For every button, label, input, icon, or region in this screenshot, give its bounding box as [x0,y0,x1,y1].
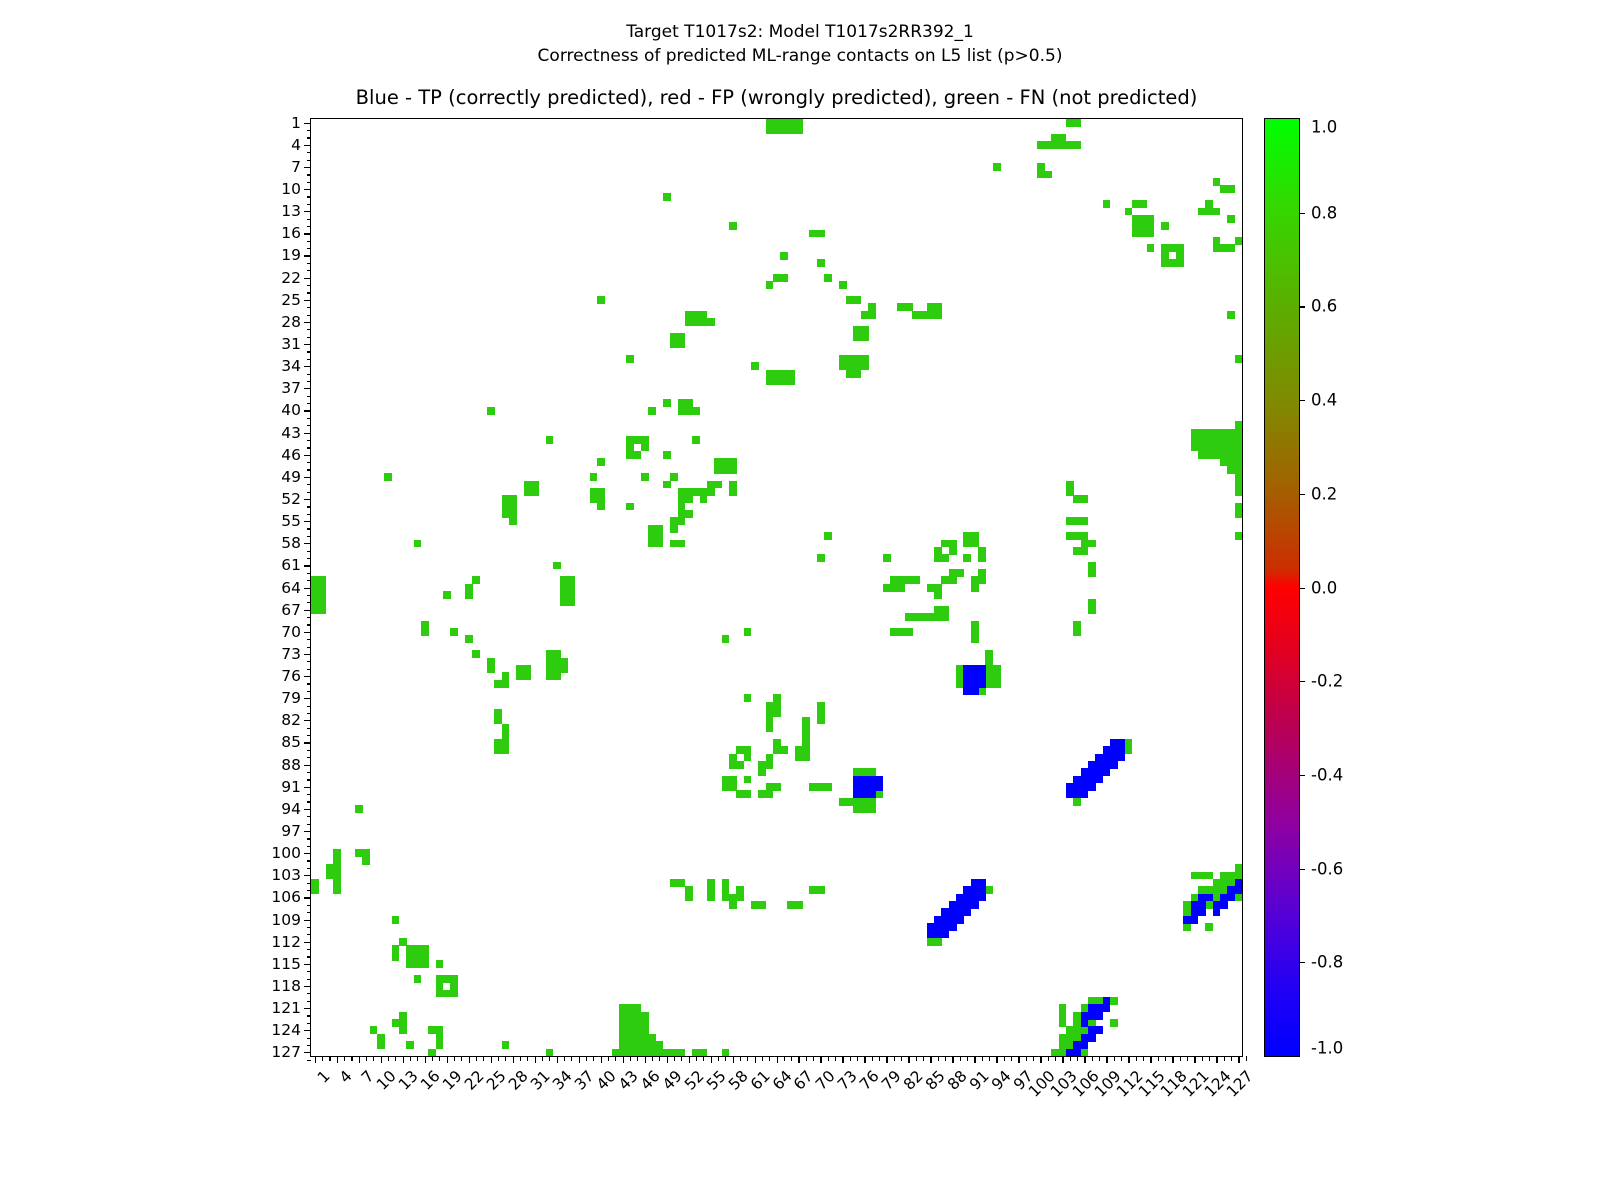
contact-cell-fn [985,886,993,894]
x-axis-minor-tick [696,1056,697,1061]
contact-cell-tp [963,908,971,916]
contact-cell-tp [1081,790,1089,798]
contact-cell-fn [993,680,1001,688]
contact-cell-fn [1066,517,1074,525]
x-axis-minor-tick [410,1056,411,1061]
contact-cell-fn [1110,997,1118,1005]
y-axis-major-tick [304,145,311,146]
x-axis-minor-tick [1180,1056,1181,1061]
colorbar-tick-label: 0.4 [1311,391,1337,410]
contact-cell-fn [817,886,825,894]
contact-cell-fn [956,569,964,577]
contact-cell-fn [546,1049,554,1056]
contact-cell-fn [678,1049,686,1056]
contact-cell-tp [1198,908,1206,916]
y-axis-minor-tick [307,595,312,596]
y-axis-minor-tick [307,838,312,839]
y-axis-minor-tick [307,292,312,293]
contact-cell-fn [560,665,568,673]
x-axis-major-tick [425,1056,426,1063]
contact-cell-fn [597,296,605,304]
x-axis-minor-tick [329,1056,330,1061]
contact-cell-fn [362,857,370,865]
contact-cell-fn [1227,215,1235,223]
y-axis-tick-label: 4 [291,136,301,154]
contact-cell-fn [729,466,737,474]
contact-cell-fn [868,805,876,813]
contact-cell-fn [912,576,920,584]
y-axis-minor-tick [307,573,312,574]
x-axis-minor-tick [586,1056,587,1061]
contact-cell-fn [1044,171,1052,179]
x-axis-minor-tick [593,1056,594,1061]
contact-cell-fn [787,377,795,385]
contact-cell-tp [949,916,957,924]
x-axis-minor-tick [1143,1056,1144,1061]
x-axis-major-tick [579,1056,580,1063]
x-axis-minor-tick [454,1056,455,1061]
contact-cell-tp [875,783,883,791]
contact-cell-fn [663,481,671,489]
contact-cell-fn [1081,547,1089,555]
contact-cell-tp [1088,783,1096,791]
y-axis-minor-tick [307,248,312,249]
suptitle-line-1: Target T1017s2: Model T1017s2RR392_1 [0,20,1600,44]
x-axis-minor-tick [1209,1056,1210,1061]
y-axis-tick-label: 10 [281,180,301,198]
contact-cell-tp [868,790,876,798]
y-axis-minor-tick [307,219,312,220]
contact-cell-tp [934,931,942,939]
contact-cell-tp [1110,761,1118,769]
x-axis-minor-tick [1136,1056,1137,1061]
x-axis-minor-tick [505,1056,506,1061]
contact-cell-fn [722,635,730,643]
contact-cell-fn [978,554,986,562]
x-axis-minor-tick [432,1056,433,1061]
y-axis-tick-label: 106 [271,888,301,906]
contact-cell-tp [1073,1049,1081,1056]
y-axis-minor-tick [307,956,312,957]
x-axis-major-tick [886,1056,887,1063]
x-axis-major-tick [1040,1056,1041,1063]
contact-cell-fn [1235,488,1242,496]
x-axis-minor-tick [960,1056,961,1061]
x-axis-minor-tick [1121,1056,1122,1061]
contact-cell-fn [590,473,598,481]
contact-cell-tp [1117,754,1125,762]
x-axis-minor-tick [1033,1056,1034,1061]
y-axis-minor-tick [307,713,312,714]
contact-cell-tp [1103,768,1111,776]
contact-cell-fn [656,540,664,548]
contact-cell-fn [1235,510,1242,518]
contact-cell-fn [678,517,686,525]
contact-cell-tp [941,923,949,931]
contact-cell-fn [414,540,422,548]
y-axis-minor-tick [307,750,312,751]
y-axis-tick-label: 100 [271,844,301,862]
y-axis-tick-label: 97 [281,822,301,840]
y-axis-minor-tick [307,536,312,537]
colorbar: 1.00.80.60.40.20.0-0.2-0.4-0.6-0.8-1.0 [1264,118,1300,1057]
y-axis-tick-label: 28 [281,313,301,331]
contact-cell-fn [670,525,678,533]
contact-cell-fn [802,754,810,762]
y-axis-major-tick [304,366,311,367]
y-axis-minor-tick [307,492,312,493]
y-axis-minor-tick [307,617,312,618]
contact-cell-fn [502,680,510,688]
y-axis-minor-tick [307,1060,312,1061]
y-axis-minor-tick [307,735,312,736]
y-axis-minor-tick [307,337,312,338]
contact-cell-tp [1081,1041,1089,1049]
x-axis-minor-tick [388,1056,389,1061]
y-axis-tick-label: 19 [281,246,301,264]
x-axis-minor-tick [483,1056,484,1061]
x-axis-major-tick [1018,1056,1019,1063]
y-axis-minor-tick [307,624,312,625]
y-axis-minor-tick [307,979,312,980]
contact-cell-fn [971,584,979,592]
y-axis-minor-tick [307,425,312,426]
contact-cell-fn [773,783,781,791]
y-axis-tick-label: 118 [271,977,301,995]
y-axis-tick-label: 88 [281,756,301,774]
x-axis-minor-tick [769,1056,770,1061]
y-axis-major-tick [304,920,311,921]
y-axis-tick-label: 25 [281,291,301,309]
contact-cell-tp [1088,1034,1096,1042]
y-axis-minor-tick [307,816,312,817]
y-axis-minor-tick [307,315,312,316]
contact-cell-fn [465,635,473,643]
colorbar-tick-label: -0.8 [1311,953,1343,972]
contact-cell-fn [663,399,671,407]
x-axis-minor-tick [395,1056,396,1061]
x-axis-minor-tick [938,1056,939,1061]
contact-cell-fn [883,554,891,562]
contact-cell-fn [692,436,700,444]
y-axis-major-tick [304,388,311,389]
contact-cell-fn [824,783,832,791]
x-axis-minor-tick [564,1056,565,1061]
x-axis-minor-tick [351,1056,352,1061]
y-axis-minor-tick [307,396,312,397]
y-axis-minor-tick [307,757,312,758]
contact-cell-fn [685,510,693,518]
contact-cell-fn [1227,244,1235,252]
y-axis-major-tick [304,499,311,500]
contact-cell-fn [766,281,774,289]
contact-cell-fn [1147,244,1155,252]
y-axis-minor-tick [307,1015,312,1016]
x-axis-major-tick [469,1056,470,1063]
contact-cell-fn [333,886,341,894]
x-axis-minor-tick [1077,1056,1078,1061]
contact-cell-fn [311,886,319,894]
contact-cell-fn [465,591,473,599]
x-axis-minor-tick [872,1056,873,1061]
contact-cell-fn [729,901,737,909]
y-axis-minor-tick [307,661,312,662]
contact-cell-fn [722,879,730,887]
x-axis-minor-tick [1011,1056,1012,1061]
contact-cell-tp [1095,776,1103,784]
y-axis-major-tick [304,676,311,677]
x-axis-minor-tick [989,1056,990,1061]
x-axis-major-tick [403,1056,404,1063]
contact-cell-fn [1235,532,1242,540]
y-axis-major-tick [304,189,311,190]
contact-cell-fn [421,628,429,636]
colorbar-tick [1299,588,1305,589]
x-axis-minor-tick [835,1056,836,1061]
x-axis-minor-tick [373,1056,374,1061]
contact-cell-fn [406,1041,414,1049]
contact-cell-fn [1139,200,1147,208]
contact-cell-fn [773,709,781,717]
contact-cell-fn [1066,481,1074,489]
contact-cell-fn [707,879,715,887]
contact-cell-fn [487,407,495,415]
y-axis-major-tick [304,632,311,633]
x-axis-major-tick [1062,1056,1063,1063]
y-axis-minor-tick [307,418,312,419]
x-axis-major-tick [513,1056,514,1063]
y-axis-major-tick [304,322,311,323]
y-axis-minor-tick [307,307,312,308]
contact-cell-tp [971,901,979,909]
colorbar-tick [1299,775,1305,776]
x-axis-major-tick [535,1056,536,1063]
contact-cell-fn [766,761,774,769]
y-axis-minor-tick [307,824,312,825]
y-axis-tick-label: 13 [281,202,301,220]
contact-cell-fn [1081,1049,1089,1056]
contact-cell-fn [487,665,495,673]
y-axis-minor-tick [307,196,312,197]
x-axis-minor-tick [571,1056,572,1061]
y-axis-major-tick [304,654,311,655]
contact-cell-fn [648,407,656,415]
x-axis-major-tick [667,1056,668,1063]
contact-cell-fn [568,599,576,607]
y-axis-minor-tick [307,647,312,648]
contact-cell-fn [758,901,766,909]
y-axis-minor-tick [307,241,312,242]
x-axis-minor-tick [1224,1056,1225,1061]
x-axis-minor-tick [1070,1056,1071,1061]
contact-cell-tp [949,923,957,931]
y-axis-tick-label: 103 [271,866,301,884]
contact-cell-fn [722,1049,730,1056]
y-axis-tick-label: 70 [281,623,301,641]
y-axis-major-tick [304,787,311,788]
x-axis-major-tick [337,1056,338,1063]
contact-cell-fn [861,333,869,341]
y-axis-tick-label: 61 [281,556,301,574]
x-axis-major-tick [689,1056,690,1063]
contact-cell-fn [714,481,722,489]
contact-cell-fn [443,591,451,599]
contact-cell-fn [641,444,649,452]
contact-cell-tp [1235,886,1242,894]
contact-cell-fn [729,783,737,791]
y-axis-major-tick [304,1008,311,1009]
contact-cell-tp [971,894,979,902]
contact-cell-fn [502,1041,510,1049]
y-axis-tick-label: 79 [281,689,301,707]
x-axis-minor-tick [828,1056,829,1061]
y-axis-major-tick [304,1052,311,1053]
contact-cell-fn [1235,355,1242,363]
y-axis-major-tick [304,344,311,345]
y-axis-major-tick [304,897,311,898]
contact-cell-fn [985,680,993,688]
x-axis-minor-tick [1048,1056,1049,1061]
y-axis-minor-tick [307,462,312,463]
x-axis-minor-tick [718,1056,719,1061]
y-axis-tick-label: 40 [281,401,301,419]
y-axis-minor-tick [307,1038,312,1039]
contact-cell-fn [1066,532,1074,540]
y-axis-tick-label: 49 [281,468,301,486]
y-axis-tick-label: 7 [291,158,301,176]
contact-cell-fn [824,532,832,540]
y-axis-major-tick [304,255,311,256]
y-axis-major-tick [304,300,311,301]
contact-cell-fn [634,451,642,459]
contact-cell-fn [978,687,986,695]
contact-cell-tp [1088,776,1096,784]
x-axis-minor-tick [762,1056,763,1061]
contact-cell-fn [868,311,876,319]
contact-cell-fn [817,554,825,562]
y-axis-minor-tick [307,1001,312,1002]
contact-cell-fn [853,296,861,304]
contact-cell-fn [670,473,678,481]
y-axis-minor-tick [307,558,312,559]
contact-cell-tp [1095,1026,1103,1034]
y-axis-major-tick [304,720,311,721]
y-axis-minor-tick [307,772,312,773]
y-axis-minor-tick [307,359,312,360]
x-axis-minor-tick [476,1056,477,1061]
x-axis-minor-tick [659,1056,660,1061]
contact-cell-fn [692,407,700,415]
x-axis-minor-tick [498,1056,499,1061]
contact-cell-fn [758,768,766,776]
y-axis-tick-label: 112 [271,933,301,951]
x-axis-minor-tick [806,1056,807,1061]
x-axis-minor-tick [945,1056,946,1061]
contact-cell-fn [934,311,942,319]
contact-cell-fn [597,503,605,511]
colorbar-tick-label: 0.8 [1311,203,1337,222]
y-axis-major-tick [304,853,311,854]
x-axis-minor-tick [784,1056,785,1061]
colorbar-tick-label: -1.0 [1311,1039,1343,1058]
y-axis-minor-tick [307,285,312,286]
y-axis-minor-tick [307,779,312,780]
contact-cell-fn [707,318,715,326]
contact-cell-fn [868,798,876,806]
contact-cell-tp [978,894,986,902]
x-axis-minor-tick [417,1056,418,1061]
x-axis-major-tick [381,1056,382,1063]
contact-cell-fn [553,562,561,570]
x-axis-minor-tick [674,1056,675,1061]
y-axis-minor-tick [307,506,312,507]
contact-cell-fn [414,975,422,983]
contact-cell-fn [1235,894,1242,902]
contact-cell-fn [531,488,539,496]
contact-cell-tp [956,916,964,924]
x-axis-minor-tick [901,1056,902,1061]
colorbar-tick-label: 0.6 [1311,297,1337,316]
contact-cell-fn [450,990,458,998]
y-axis-minor-tick [307,1023,312,1024]
contact-cell-fn [685,495,693,503]
contact-cell-fn [377,1041,385,1049]
x-axis-minor-tick [652,1056,653,1061]
contact-cell-fn [1073,798,1081,806]
contact-cell-fn [853,370,861,378]
contact-cell-fn [384,473,392,481]
y-axis-tick-label: 31 [281,335,301,353]
y-axis-major-tick [304,278,311,279]
y-axis-tick-label: 52 [281,490,301,508]
x-axis-minor-tick [703,1056,704,1061]
contact-cell-fn [707,488,715,496]
contact-cell-fn [839,281,847,289]
contact-cell-fn [729,222,737,230]
contact-cell-tp [1066,790,1074,798]
contact-cell-fn [744,790,752,798]
contact-cell-tp [978,879,986,887]
y-axis-major-tick [304,211,311,212]
y-axis-minor-tick [307,890,312,891]
x-axis-major-tick [952,1056,953,1063]
y-axis-major-tick [304,942,311,943]
y-axis-tick-label: 124 [271,1021,301,1039]
colorbar-tick-label: -0.6 [1311,859,1343,878]
y-axis-minor-tick [307,580,312,581]
x-axis-major-tick [645,1056,646,1063]
x-axis-minor-tick [879,1056,880,1061]
y-axis-major-tick [304,455,311,456]
x-axis-major-tick [315,1056,316,1063]
x-axis-major-tick [447,1056,448,1063]
y-axis-major-tick [304,565,311,566]
y-axis-minor-tick [307,329,312,330]
contact-cell-fn [472,576,480,584]
x-axis-major-tick [1172,1056,1173,1063]
x-axis-major-tick [820,1056,821,1063]
colorbar-tick [1299,213,1305,214]
x-axis-minor-tick [1246,1056,1247,1061]
colorbar-tick [1299,962,1305,963]
contact-cell-fn [1161,222,1169,230]
contact-cell-fn [963,554,971,562]
contact-cell-fn [780,746,788,754]
y-axis-minor-tick [307,130,312,131]
y-axis-major-tick [304,433,311,434]
y-axis-tick-label: 22 [281,269,301,287]
x-axis-minor-tick [681,1056,682,1061]
